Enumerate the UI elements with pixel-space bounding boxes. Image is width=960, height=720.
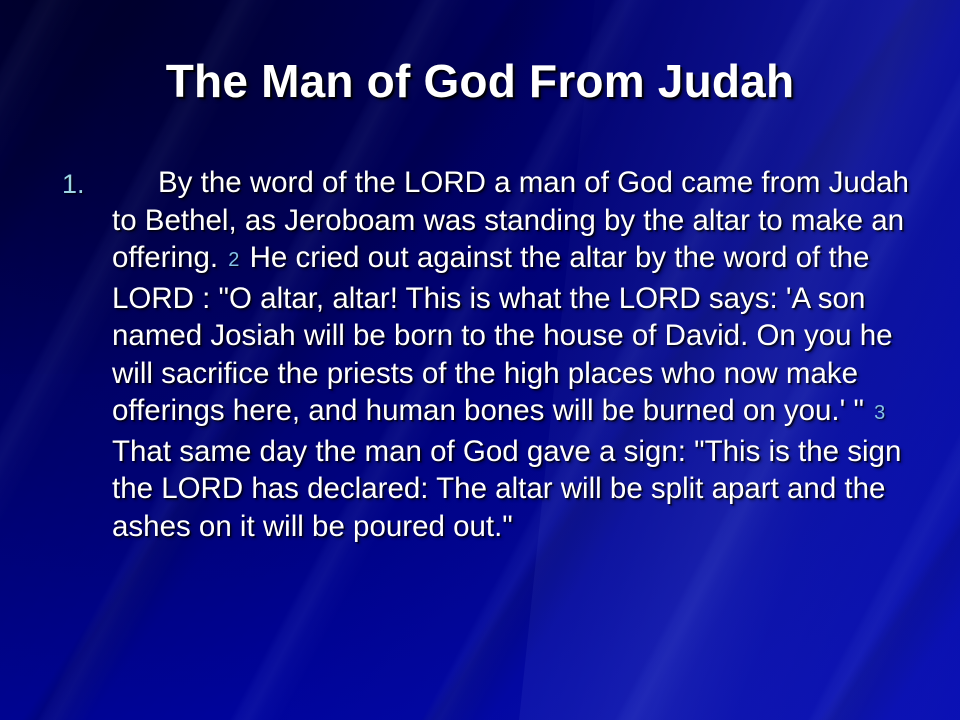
verse-number: 3 (872, 402, 887, 424)
slide-body: 1. By the word of the LORD a man of God … (56, 164, 912, 545)
slide-title: The Man of God From Judah (0, 54, 960, 108)
list-item-text: By the word of the LORD a man of God cam… (112, 166, 909, 543)
list-item: 1. By the word of the LORD a man of God … (56, 164, 912, 545)
presentation-slide: The Man of God From Judah 1. By the word… (0, 0, 960, 720)
verse-number: 2 (226, 249, 241, 271)
slide-content: The Man of God From Judah 1. By the word… (0, 0, 960, 720)
list-marker-number: 1. (62, 166, 85, 204)
